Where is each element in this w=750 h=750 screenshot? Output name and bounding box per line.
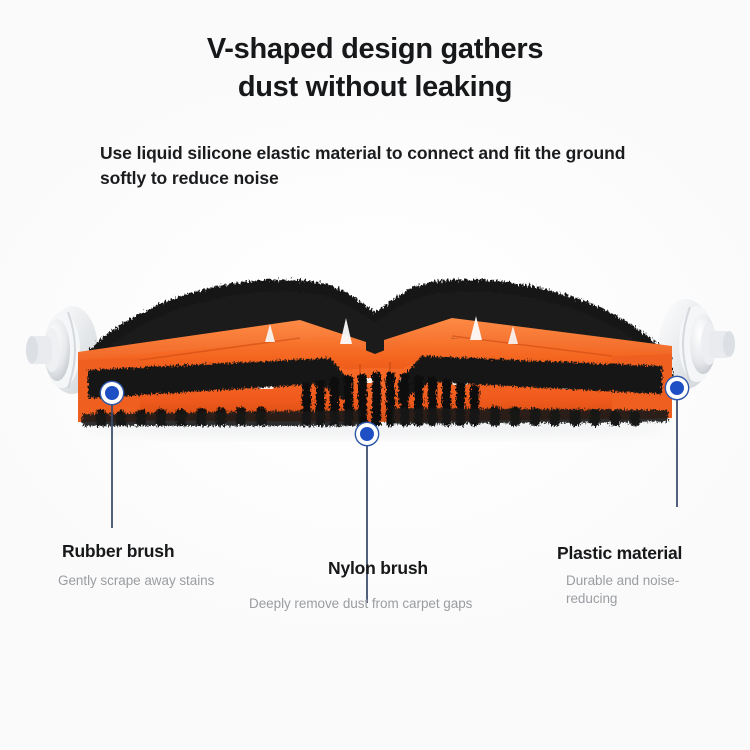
page-subtitle: Use liquid silicone elastic material to …	[100, 141, 660, 192]
callout-title-rubber-brush: Rubber brush	[62, 541, 174, 562]
callout-desc-plastic-material: Durable and noise-reducing	[566, 572, 684, 608]
infographic-canvas: V-shaped design gathers dust without lea…	[0, 0, 750, 750]
leader-line-plastic-material	[676, 400, 678, 507]
callout-title-plastic-material: Plastic material	[557, 543, 682, 564]
marker-dot-plastic-material[interactable]	[666, 377, 688, 399]
marker-dot-nylon-brush[interactable]	[356, 423, 378, 445]
leader-line-rubber-brush	[111, 400, 113, 528]
page-title: V-shaped design gathers dust without lea…	[0, 30, 750, 107]
marker-dot-rubber-brush[interactable]	[101, 382, 123, 404]
callout-desc-nylon-brush: Deeply remove dust from carpet gaps	[249, 595, 549, 613]
callout-desc-rubber-brush: Gently scrape away stains	[58, 572, 288, 590]
callout-title-nylon-brush: Nylon brush	[328, 558, 428, 579]
